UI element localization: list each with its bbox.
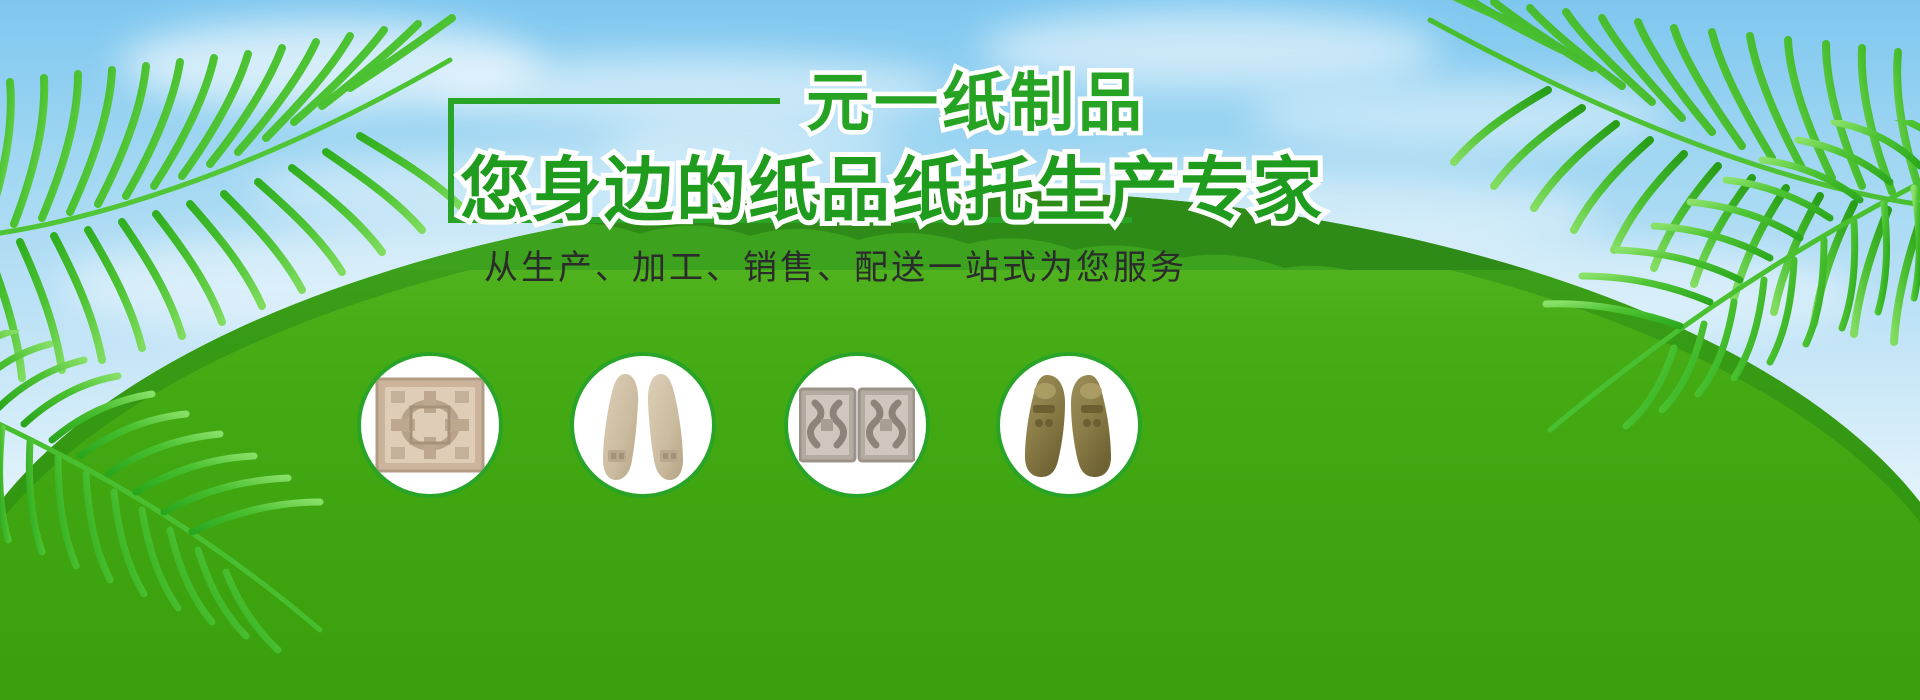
headline-frame: 元一纸制品 您身边的纸品纸托生产专家 [448, 98, 1132, 223]
double-pulp-tray-icon [799, 385, 915, 465]
promo-banner: 元一纸制品 您身边的纸品纸托生产专家 从生产、加工、销售、配送一站式为您服务 [0, 0, 1920, 700]
product-circle-olive-shoe-tray-pair[interactable] [996, 352, 1142, 498]
product-circle-square-pulp-tray[interactable] [357, 352, 503, 498]
headline-line-2: 您身边的纸品纸托生产专家 [460, 134, 1324, 235]
subtitle-text: 从生产、加工、销售、配送一站式为您服务 [484, 240, 1187, 289]
product-circle-shoe-insole-pair[interactable] [570, 352, 716, 498]
shoe-insole-pair-icon [595, 366, 691, 484]
olive-shoe-tray-pair-icon [1019, 369, 1119, 481]
product-circle-double-pulp-tray[interactable] [784, 352, 930, 498]
headline-line-1: 元一纸制品 [806, 52, 1146, 144]
cloud [120, 20, 540, 110]
square-pulp-tray-icon [375, 377, 485, 473]
product-circle-row [0, 352, 1920, 512]
